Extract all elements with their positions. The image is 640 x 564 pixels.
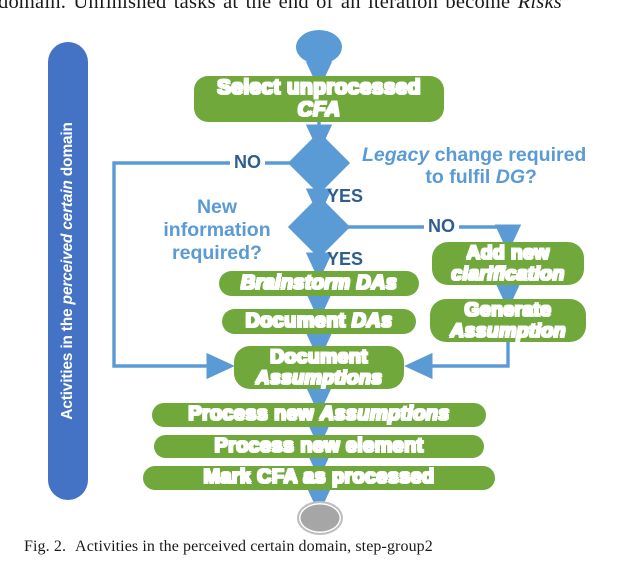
node-proc-elem-label: Process new element <box>214 435 423 457</box>
node-mark-cfa-processed[interactable]: Mark CFA as processed <box>143 466 495 490</box>
figure-caption: Fig. 2.Activities in the perceived certa… <box>24 538 433 556</box>
node-select-cfa-line1: Select unprocessed <box>217 76 421 99</box>
decision2-q-line1: New <box>197 196 237 218</box>
node-document-assumptions[interactable]: Document Assumptions <box>234 346 404 389</box>
decision1-q-rest1: change required <box>429 144 586 166</box>
node-process-new-assumptions[interactable]: Process new Assumptions <box>152 403 486 427</box>
node-document-das[interactable]: Document DAs <box>222 309 416 334</box>
decision1-q-post2: ? <box>525 166 537 188</box>
edge-label-d1-yes: YES <box>327 186 363 207</box>
decision2-q-line3: required? <box>172 242 262 264</box>
node-gen-assum-line1: Generate <box>465 299 552 321</box>
edge-genassum-to-docassum <box>415 342 508 366</box>
node-select-unprocessed-cfa[interactable]: Select unprocessed CFA <box>194 76 444 122</box>
edge-label-d2-no: NO <box>424 216 459 237</box>
end-node <box>297 501 343 535</box>
node-doc-assum-line2: Assumptions <box>256 367 383 389</box>
node-gen-assum-line2: Assumption <box>450 320 566 342</box>
decision1-q-pre2: to fulfil <box>425 166 495 188</box>
node-brainstorm-das-label: Brainstorm DAs <box>241 272 397 294</box>
figure-page: domain. Unfinished tasks at the end of a… <box>0 0 640 564</box>
decision2-question: New information required? <box>142 196 292 265</box>
edge-label-d2-yes: YES <box>327 249 363 270</box>
figure-caption-text: Activities in the perceived certain doma… <box>75 538 433 555</box>
node-add-clar-line2: clarification <box>451 263 564 285</box>
figure-caption-label: Fig. 2. <box>24 538 66 555</box>
start-node <box>296 30 342 64</box>
decision1-question: Legacy change required to fulfil DG? <box>362 144 586 189</box>
node-mark-cfa-label: Mark CFA as processed <box>203 466 434 488</box>
node-generate-assumption[interactable]: Generate Assumption <box>430 299 586 342</box>
decision1-q-italic1: Legacy <box>362 144 429 166</box>
edge-label-d1-no: NO <box>230 152 265 173</box>
node-add-new-clarification[interactable]: Add new clarification <box>432 242 584 285</box>
node-process-new-element[interactable]: Process new element <box>154 435 484 458</box>
decision1-q-italic2: DG <box>496 166 525 188</box>
node-add-clar-line1: Add new <box>466 242 549 264</box>
node-proc-assum-italic: Assumptions <box>320 403 450 425</box>
node-document-das-italic: DAs <box>352 310 393 332</box>
node-proc-assum-pre: Process new <box>188 403 319 425</box>
node-doc-assum-line1: Document <box>270 346 368 368</box>
decision2-q-line2: information <box>163 219 270 241</box>
node-select-cfa-line2: CFA <box>298 98 341 121</box>
node-document-das-pre: Document <box>246 310 352 332</box>
node-brainstorm-das[interactable]: Brainstorm DAs <box>219 271 419 296</box>
